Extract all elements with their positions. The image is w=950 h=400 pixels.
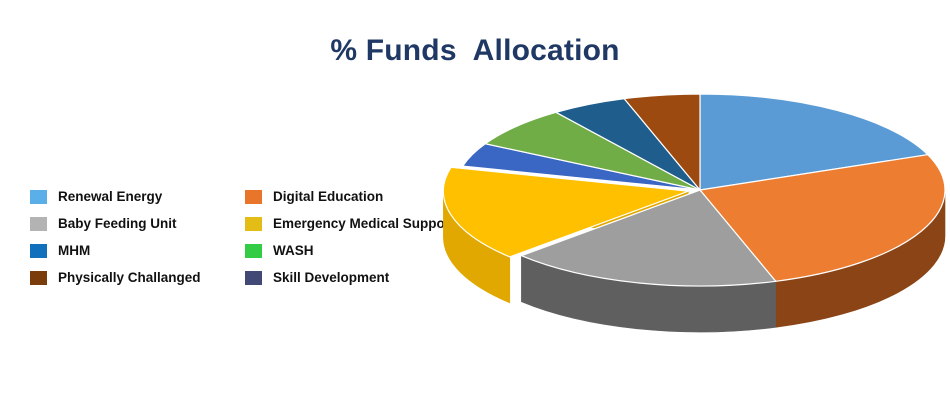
- legend-column-left: Renewal Energy Baby Feeding Unit MHM Phy…: [30, 183, 245, 291]
- legend-label-mhm: MHM: [58, 243, 90, 258]
- pie-top-faces: [443, 94, 945, 286]
- legend-swatch-digital-education: [245, 190, 262, 204]
- legend-label-physically-challanged: Physically Challanged: [58, 270, 201, 285]
- legend-label-digital-education: Digital Education: [273, 189, 383, 204]
- legend-swatch-mhm: [30, 244, 47, 258]
- legend-label-emergency-medical-support: Emergency Medical Support: [273, 216, 455, 231]
- legend-label-skill-development: Skill Development: [273, 270, 389, 285]
- legend-swatch-baby-feeding-unit: [30, 217, 47, 231]
- chart-title: % Funds Allocation: [0, 34, 950, 68]
- legend-item-renewal-energy[interactable]: Renewal Energy: [30, 183, 245, 210]
- pie-chart-svg: [440, 88, 950, 378]
- legend-swatch-renewal-energy: [30, 190, 47, 204]
- legend-swatch-wash: [245, 244, 262, 258]
- legend-item-baby-feeding-unit[interactable]: Baby Feeding Unit: [30, 210, 245, 237]
- legend-item-physically-challanged[interactable]: Physically Challanged: [30, 264, 245, 291]
- legend-item-mhm[interactable]: MHM: [30, 237, 245, 264]
- legend-swatch-emergency-medical-support: [245, 217, 262, 231]
- legend-label-wash: WASH: [273, 243, 314, 258]
- legend-label-baby-feeding-unit: Baby Feeding Unit: [58, 216, 177, 231]
- legend-label-renewal-energy: Renewal Energy: [58, 189, 162, 204]
- pie-chart: [440, 88, 950, 378]
- legend-swatch-physically-challanged: [30, 271, 47, 285]
- legend-swatch-skill-development: [245, 271, 262, 285]
